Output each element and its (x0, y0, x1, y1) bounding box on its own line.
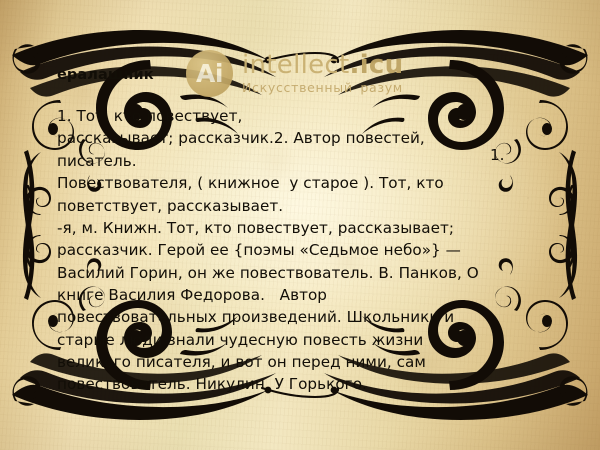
edge-line-left (26, 186, 31, 266)
edge-line-top (262, 53, 338, 62)
article-body-text: 1. Тот, кто повествует, рассказывает; ра… (57, 105, 527, 395)
dictionary-article: ералашник 1. Тот, кто повествует, расска… (57, 66, 527, 396)
article-headword: ералашник (57, 66, 527, 84)
edge-line-right (568, 186, 573, 266)
sense-number-marker: 1. (490, 146, 505, 164)
parchment-page: Ai intellect.icu Искусственный разум ера… (0, 0, 600, 450)
